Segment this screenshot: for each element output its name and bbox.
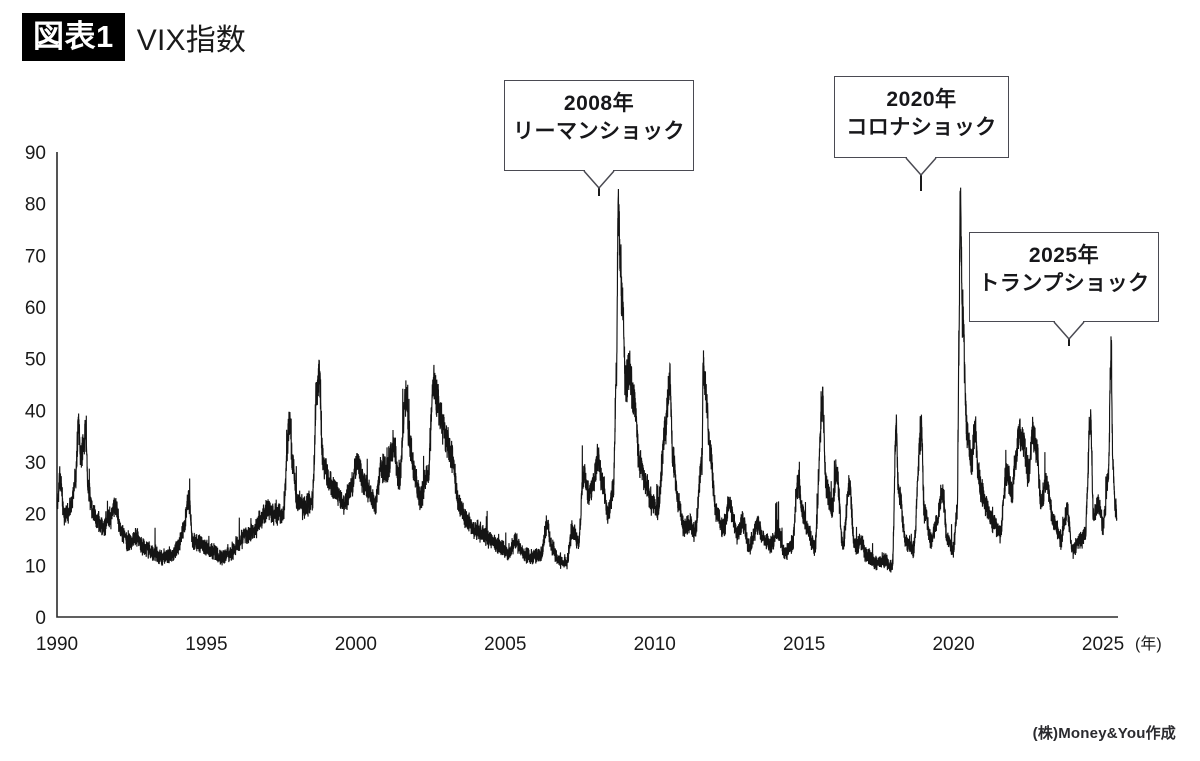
annotation-year: 2008年 xyxy=(505,90,693,118)
y-axis-tick-label: 50 xyxy=(25,350,46,371)
y-axis-tick-label: 40 xyxy=(25,401,46,422)
x-axis-tick-label: 2010 xyxy=(634,634,676,655)
y-axis-tick-label: 90 xyxy=(25,143,46,164)
y-axis-tick-label: 30 xyxy=(25,453,46,474)
annotation-callout-lehman: 2008年リーマンショック xyxy=(504,80,694,171)
annotation-event: コロナショック xyxy=(835,114,1008,142)
y-axis-tick-label: 70 xyxy=(25,246,46,267)
x-axis-tick-label: 2015 xyxy=(783,634,825,655)
x-axis-unit-label: (年) xyxy=(1135,635,1162,653)
x-axis-tick-label: 2005 xyxy=(484,634,526,655)
annotation-year: 2020年 xyxy=(835,86,1008,114)
x-axis-tick-label: 2020 xyxy=(932,634,974,655)
y-axis-tick-label: 60 xyxy=(25,298,46,319)
annotation-pointer-trump xyxy=(1068,339,1070,346)
series-line-vix xyxy=(57,188,1117,573)
source-credit: (株)Money&You作成 xyxy=(1033,722,1176,743)
annotation-callout-corona: 2020年コロナショック xyxy=(834,76,1009,158)
y-axis-tick-label: 80 xyxy=(25,195,46,216)
y-axis-tick-label: 20 xyxy=(25,505,46,526)
y-axis-tick-label: 0 xyxy=(35,608,46,629)
x-axis-tick-label: 2000 xyxy=(335,634,377,655)
x-axis-tick-label: 1990 xyxy=(36,634,78,655)
annotation-year: 2025年 xyxy=(970,242,1158,270)
annotation-event: リーマンショック xyxy=(505,118,693,146)
annotation-pointer-lehman xyxy=(598,188,600,196)
annotation-pointer-corona xyxy=(920,175,922,191)
annotation-event: トランプショック xyxy=(970,270,1158,298)
x-axis-tick-label: 2025 xyxy=(1082,634,1124,655)
y-axis-tick-label: 10 xyxy=(25,556,46,577)
figure-root: 図表1 VIX指数 010203040506070809019901995200… xyxy=(0,0,1200,761)
annotation-callout-trump: 2025年トランプショック xyxy=(969,232,1159,322)
x-axis-tick-label: 1995 xyxy=(185,634,227,655)
